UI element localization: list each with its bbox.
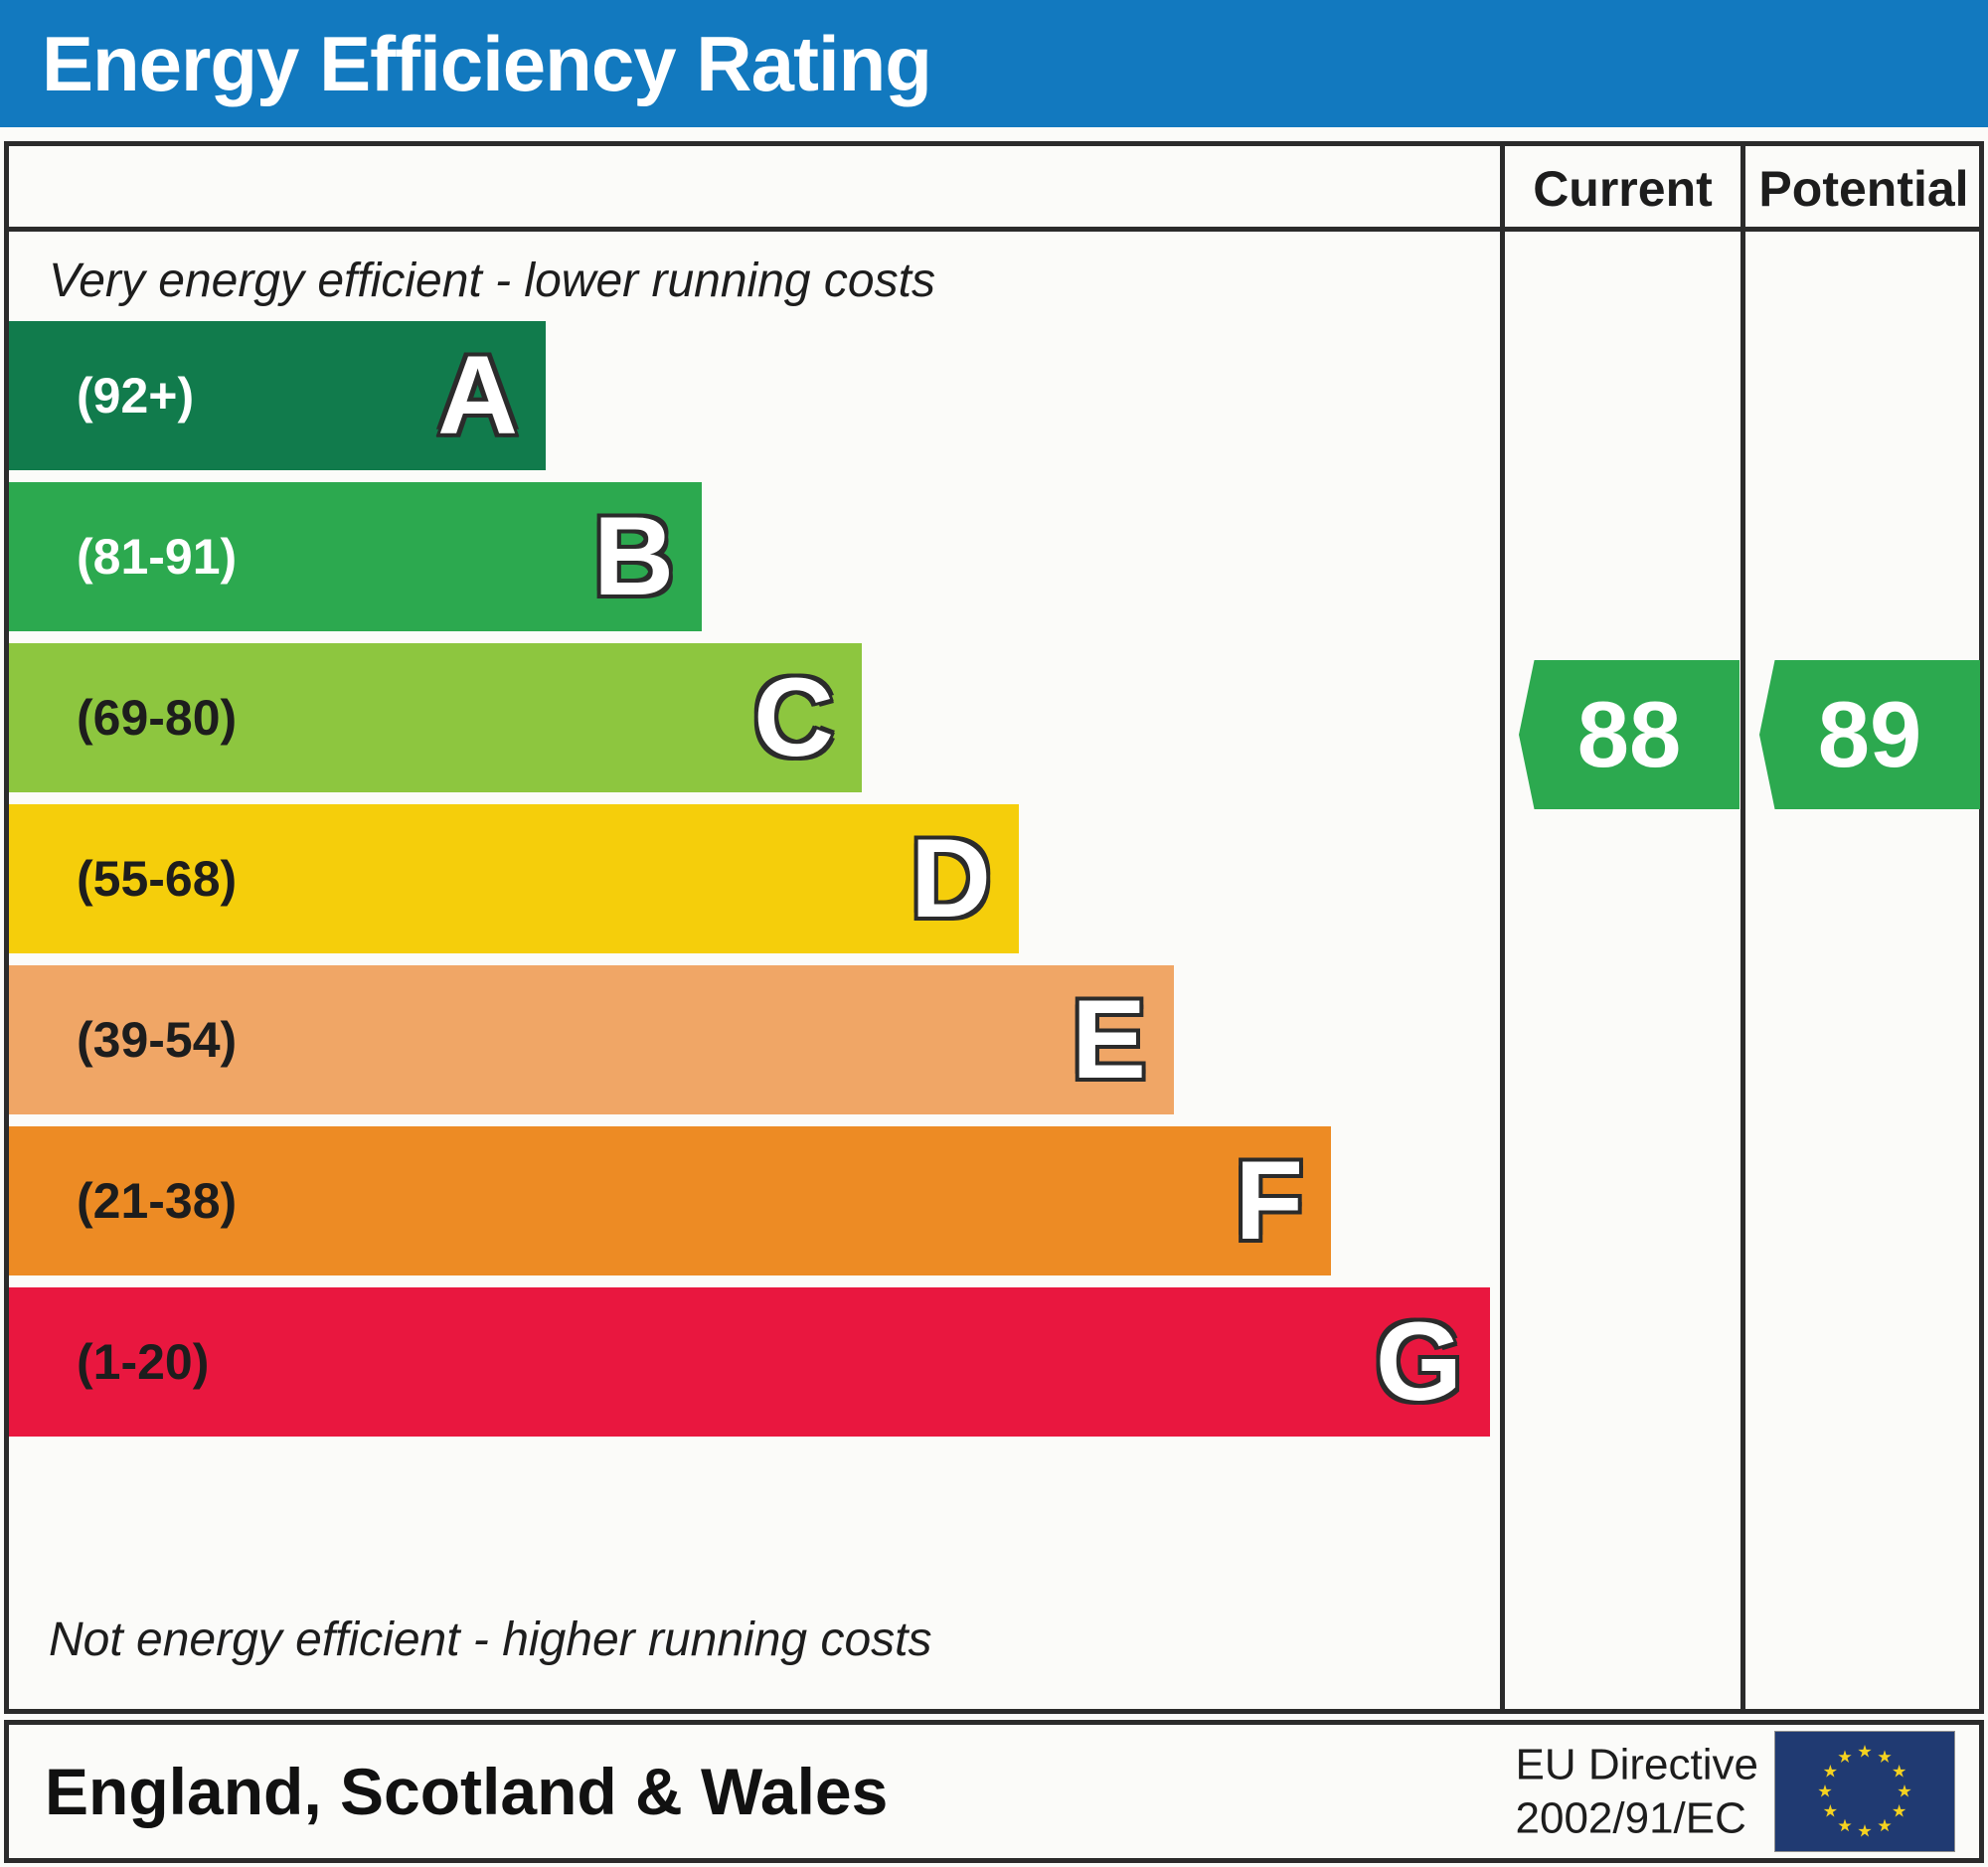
band-f-range: (21-38): [77, 1176, 237, 1226]
potential-rating-badge: 89: [1759, 660, 1980, 809]
footer-region-label: England, Scotland & Wales: [45, 1759, 888, 1824]
column-header-current: Current: [1505, 146, 1740, 232]
energy-efficiency-certificate: Energy Efficiency Rating Current Potenti…: [0, 0, 1988, 1867]
band-c-letter: C: [753, 662, 834, 773]
page-title: Energy Efficiency Rating: [0, 25, 931, 102]
band-b-range: (81-91): [77, 532, 237, 582]
band-a-range: (92+): [77, 371, 194, 421]
band-f-letter: F: [1236, 1145, 1303, 1257]
column-divider-left: [1500, 146, 1505, 1709]
caption-inefficient: Not energy efficient - higher running co…: [49, 1616, 931, 1664]
column-header-potential: Potential: [1745, 146, 1982, 232]
band-g-letter: G: [1376, 1306, 1462, 1418]
band-d-range: (55-68): [77, 854, 237, 904]
band-g-range: (1-20): [77, 1337, 209, 1387]
directive-line-1: EU Directive: [1516, 1738, 1759, 1791]
potential-rating-value: 89: [1818, 688, 1922, 781]
band-g: (1-20) G: [9, 1287, 1490, 1437]
band-a-letter: A: [437, 340, 518, 451]
band-b: (81-91) B: [9, 482, 702, 631]
band-e-letter: E: [1072, 984, 1146, 1096]
band-chart: Very energy efficient - lower running co…: [9, 232, 1500, 1709]
rating-table: Current Potential Very energy efficient …: [4, 141, 1984, 1714]
band-list: (92+) A (81-91) B (69-80) C (55-68) D: [9, 321, 1500, 1606]
eu-flag-icon: [1774, 1731, 1955, 1852]
footer-directive-label: EU Directive 2002/91/EC: [1516, 1738, 1759, 1844]
band-e-range: (39-54): [77, 1015, 237, 1065]
title-bar: Energy Efficiency Rating: [0, 0, 1988, 127]
band-a: (92+) A: [9, 321, 546, 470]
caption-efficient: Very energy efficient - lower running co…: [49, 257, 935, 305]
band-f: (21-38) F: [9, 1126, 1331, 1275]
band-d-letter: D: [911, 823, 991, 934]
band-c: (69-80) C: [9, 643, 862, 792]
footer-bar: England, Scotland & Wales EU Directive 2…: [4, 1720, 1984, 1863]
band-c-range: (69-80): [77, 693, 237, 743]
column-divider-right: [1740, 146, 1745, 1709]
current-rating-badge: 88: [1519, 660, 1739, 809]
current-rating-value: 88: [1577, 688, 1682, 781]
directive-line-2: 2002/91/EC: [1516, 1791, 1759, 1845]
band-d: (55-68) D: [9, 804, 1019, 953]
band-e: (39-54) E: [9, 965, 1174, 1114]
band-b-letter: B: [593, 501, 674, 612]
